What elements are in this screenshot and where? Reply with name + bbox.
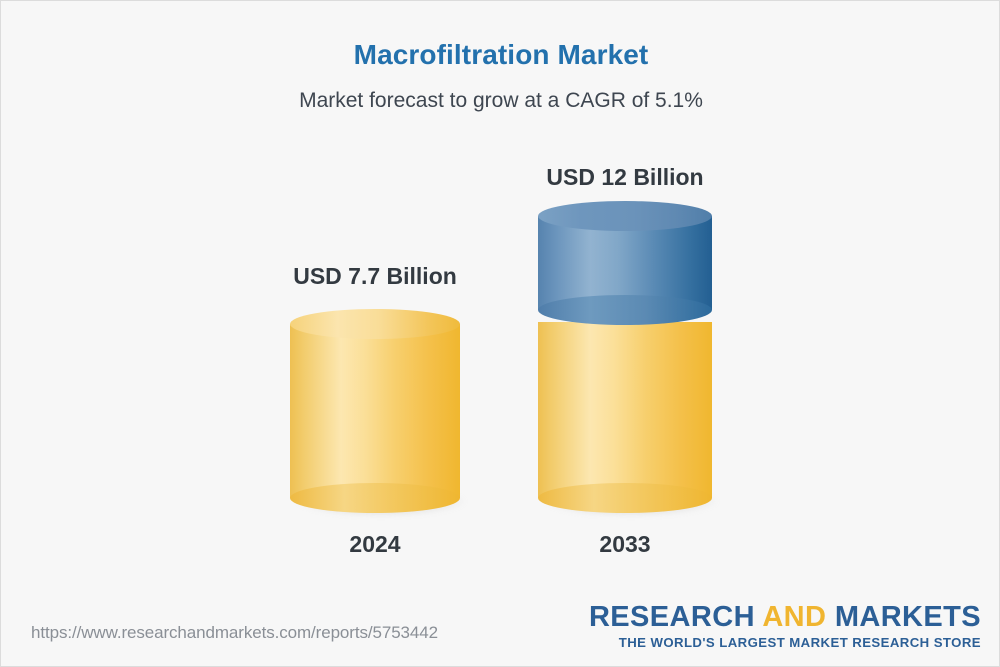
logo-wordmark: RESEARCH AND MARKETS — [589, 603, 981, 633]
bar-group-2033: USD 12 Billion 2033 — [538, 1, 712, 601]
logo-word-research: RESEARCH — [589, 601, 755, 633]
segment-bottom-ellipse — [538, 483, 712, 513]
logo-word-and: AND — [762, 601, 826, 633]
bar-segment-growth-2033 — [538, 201, 712, 325]
bar-category-label-2024: 2024 — [290, 531, 460, 558]
bar-segment-base-2024 — [290, 309, 460, 513]
infographic-canvas: Macrofiltration Market Market forecast t… — [0, 0, 1000, 667]
segment-top-ellipse — [290, 309, 460, 339]
segment-body — [538, 322, 712, 498]
logo-tagline: THE WORLD'S LARGEST MARKET RESEARCH STOR… — [589, 635, 981, 652]
bar-category-label-2033: 2033 — [538, 531, 712, 558]
bar-cylinder-2033 — [538, 201, 712, 513]
research-and-markets-logo: RESEARCH AND MARKETS THE WORLD'S LARGEST… — [589, 603, 981, 651]
chart-plot-area: USD 7.7 Billion 2024 USD 12 Billion — [1, 1, 1000, 601]
segment-bottom-ellipse — [538, 295, 712, 325]
segment-top-ellipse — [538, 201, 712, 231]
bar-segment-base-2033 — [538, 307, 712, 513]
segment-body — [290, 324, 460, 498]
bar-value-label-2033: USD 12 Billion — [538, 164, 712, 191]
bar-cylinder-2024 — [290, 309, 460, 513]
segment-bottom-ellipse — [290, 483, 460, 513]
source-url[interactable]: https://www.researchandmarkets.com/repor… — [31, 623, 438, 643]
bar-group-2024: USD 7.7 Billion 2024 — [290, 1, 460, 601]
bar-value-label-2024: USD 7.7 Billion — [290, 263, 460, 290]
logo-word-markets: MARKETS — [835, 601, 981, 633]
